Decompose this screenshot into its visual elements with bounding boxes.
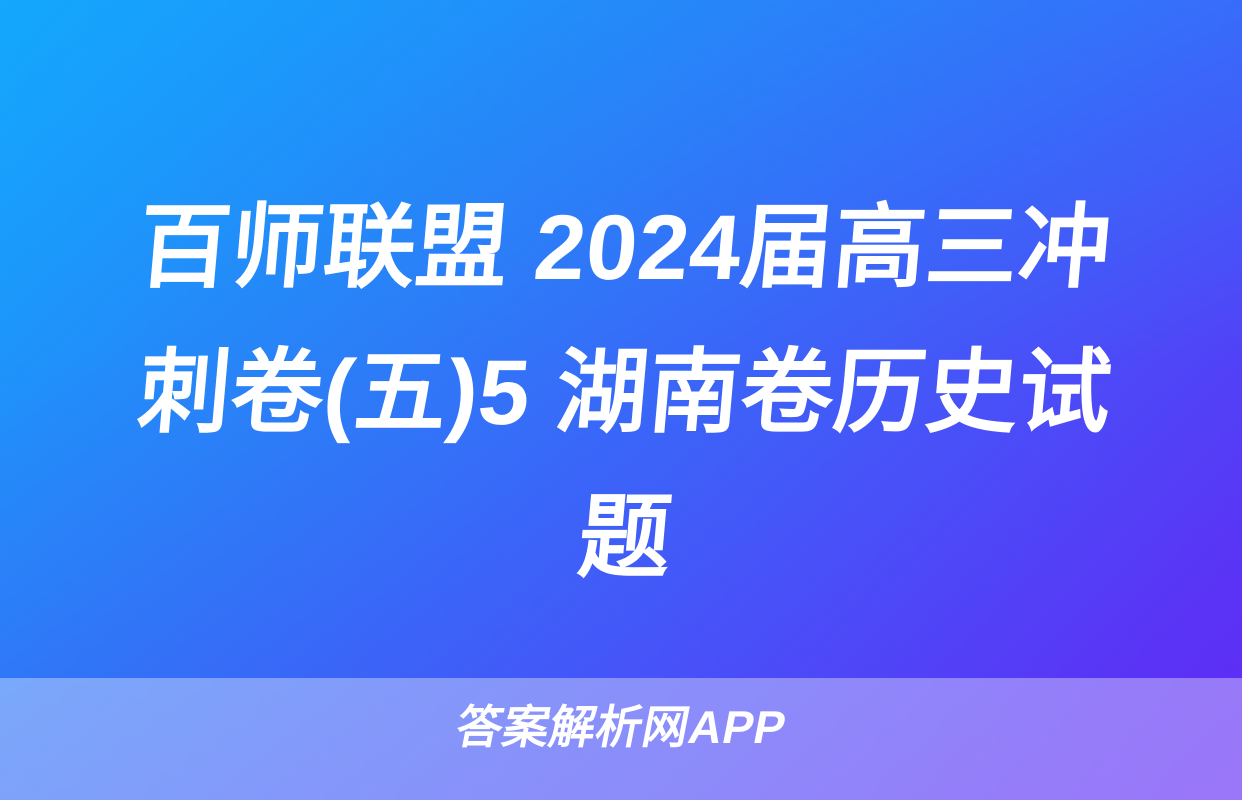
title-line-1: 百师联盟 2024届高三冲	[74, 176, 1177, 321]
title-line-3: 题	[74, 466, 1177, 611]
page-title: 百师联盟 2024届高三冲 刺卷(五)5 湖南卷历史试 题	[80, 176, 1170, 611]
cover-canvas: 百师联盟 2024届高三冲 刺卷(五)5 湖南卷历史试 题 答案解析网APP	[0, 0, 1242, 800]
title-line-2: 刺卷(五)5 湖南卷历史试	[74, 321, 1177, 466]
watermark-label: 答案解析网APP	[451, 700, 790, 754]
footer-watermark-band: 答案解析网APP	[0, 678, 1242, 800]
